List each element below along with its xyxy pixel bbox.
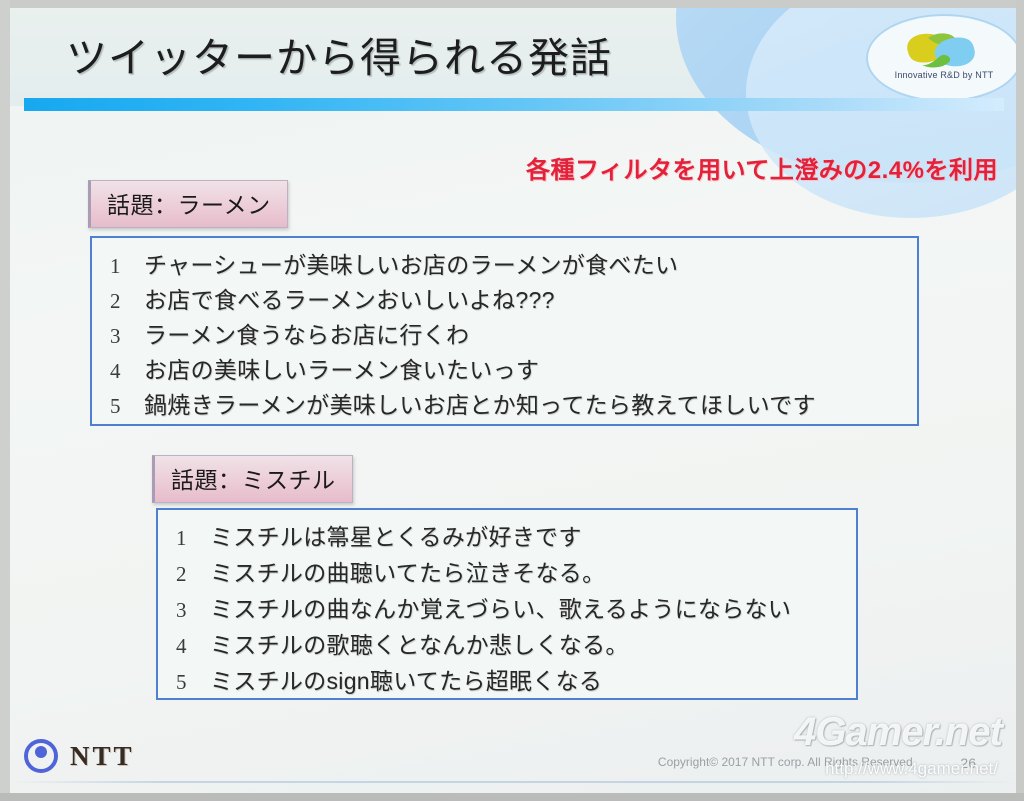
slide-title: ツイッターから得られる発話 [66,24,612,84]
list-item-number: 2 [110,289,144,314]
list-item: 1 ミスチルは箒星とくるみが好きです [158,518,856,554]
topic-chip-mistil: 話題：ミスチル [152,455,353,503]
list-item-text: お店の美味しいラーメン食いたいっす [144,351,539,385]
utterance-list-mistil: 1 ミスチルは箒星とくるみが好きです 2 ミスチルの曲聴いてたら泣きそなる。 3… [156,508,858,700]
photo-frame-right [1016,0,1024,801]
list-item-text: ミスチルのsign聴いてたら超眠くなる [210,662,602,696]
ntt-logo: NTT [24,739,135,773]
photo-frame-left [0,0,10,801]
filter-annotation: 各種フィルタを用いて上澄みの2.4%を利用 [526,150,998,185]
list-item-text: 鍋焼きラーメンが美味しいお店とか知ってたら教えてほしいです [144,386,816,420]
list-item-text: ミスチルの曲なんか覚えづらい、歌えるようにならない [210,590,791,624]
list-item-text: ミスチルの歌聴くとなんか悲しくなる。 [210,626,629,660]
slide-photo: Innovative R&D by NTT ツイッターから得られる発話 各種フィ… [0,0,1024,801]
list-item-text: ラーメン食うならお店に行くわ [144,316,469,350]
list-item-number: 4 [176,634,210,659]
list-item-text: チャーシューが美味しいお店のラーメンが食べたい [144,246,678,280]
watermark-logo: 4Gamer.net [794,710,1002,755]
ntt-ring-icon [24,739,58,773]
list-item-number: 3 [176,598,210,623]
photo-frame-top [0,0,1024,8]
list-item-number: 2 [176,562,210,587]
list-item: 5 鍋焼きラーメンが美味しいお店とか知ってたら教えてほしいです [92,386,917,421]
list-item: 2 お店で食べるラーメンおいしいよね??? [92,281,917,316]
list-item-number: 4 [110,359,144,384]
list-item: 2 ミスチルの曲聴いてたら泣きそなる。 [158,554,856,590]
slide-header: Innovative R&D by NTT ツイッターから得られる発話 [10,8,1016,106]
ntt-wordmark: NTT [70,741,135,772]
list-item: 1 チャーシューが美味しいお店のラーメンが食べたい [92,246,917,281]
list-item: 3 ラーメン食うならお店に行くわ [92,316,917,351]
ntt-rd-swirl-icon [898,28,984,72]
topic-chip-ramen: 話題：ラーメン [88,180,288,228]
photo-frame-bottom [0,793,1024,801]
watermark-url: http://www.4gamer.net/ [825,759,998,779]
list-item-number: 5 [110,394,144,419]
slide-canvas: Innovative R&D by NTT ツイッターから得られる発話 各種フィ… [10,8,1016,793]
list-item: 3 ミスチルの曲なんか覚えづらい、歌えるようにならない [158,590,856,626]
title-underline-bar [24,98,1004,111]
list-item-number: 5 [176,670,210,695]
list-item: 4 ミスチルの歌聴くとなんか悲しくなる。 [158,626,856,662]
list-item-text: ミスチルは箒星とくるみが好きです [210,518,582,552]
list-item-number: 3 [110,324,144,349]
utterance-list-ramen: 1 チャーシューが美味しいお店のラーメンが食べたい 2 お店で食べるラーメンおい… [90,236,919,426]
list-item-text: ミスチルの曲聴いてたら泣きそなる。 [210,554,605,588]
list-item: 4 お店の美味しいラーメン食いたいっす [92,351,917,386]
list-item-number: 1 [176,526,210,551]
list-item: 5 ミスチルのsign聴いてたら超眠くなる [158,662,856,698]
rd-logo-caption: Innovative R&D by NTT [868,70,1016,80]
footer-divider [10,781,1016,783]
list-item-text: お店で食べるラーメンおいしいよね??? [144,281,555,315]
list-item-number: 1 [110,254,144,279]
